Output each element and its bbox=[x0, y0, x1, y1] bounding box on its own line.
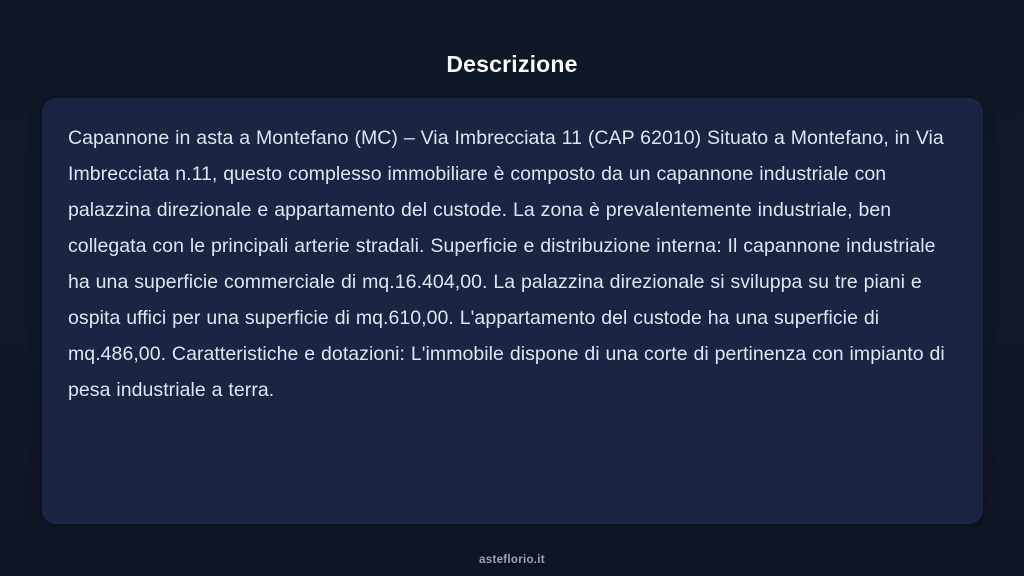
footer-watermark: asteflorio.it bbox=[0, 554, 1024, 566]
page-title: Descrizione bbox=[0, 48, 1024, 80]
description-text: Capannone in asta a Montefano (MC) – Via… bbox=[68, 120, 957, 408]
slide-screen: Descrizione Capannone in asta a Montefan… bbox=[0, 0, 1024, 576]
description-card: Capannone in asta a Montefano (MC) – Via… bbox=[42, 98, 983, 524]
